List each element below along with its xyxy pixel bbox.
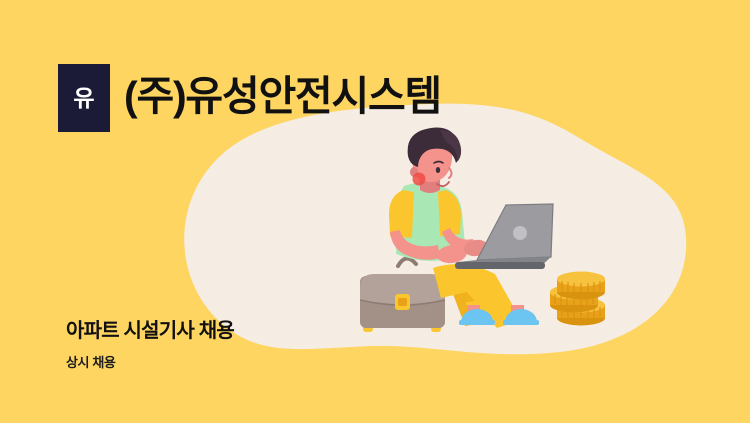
laptop-icon <box>455 204 553 269</box>
coin-stack-icon <box>550 272 605 326</box>
company-name-title: (주)유성안전시스템 <box>124 76 441 120</box>
job-info: 아파트 시설기사 채용 상시 채용 <box>66 319 234 371</box>
job-title: 아파트 시설기사 채용 <box>66 319 234 343</box>
job-type-label: 상시 채용 <box>66 355 234 371</box>
company-logo-mark: 유 <box>58 64 110 132</box>
company-header: 유 (주)유성안전시스템 <box>58 64 441 132</box>
briefcase-icon <box>360 258 445 332</box>
recruitment-banner: 유 (주)유성안전시스템 아파트 시설기사 채용 상시 채용 <box>0 0 750 423</box>
